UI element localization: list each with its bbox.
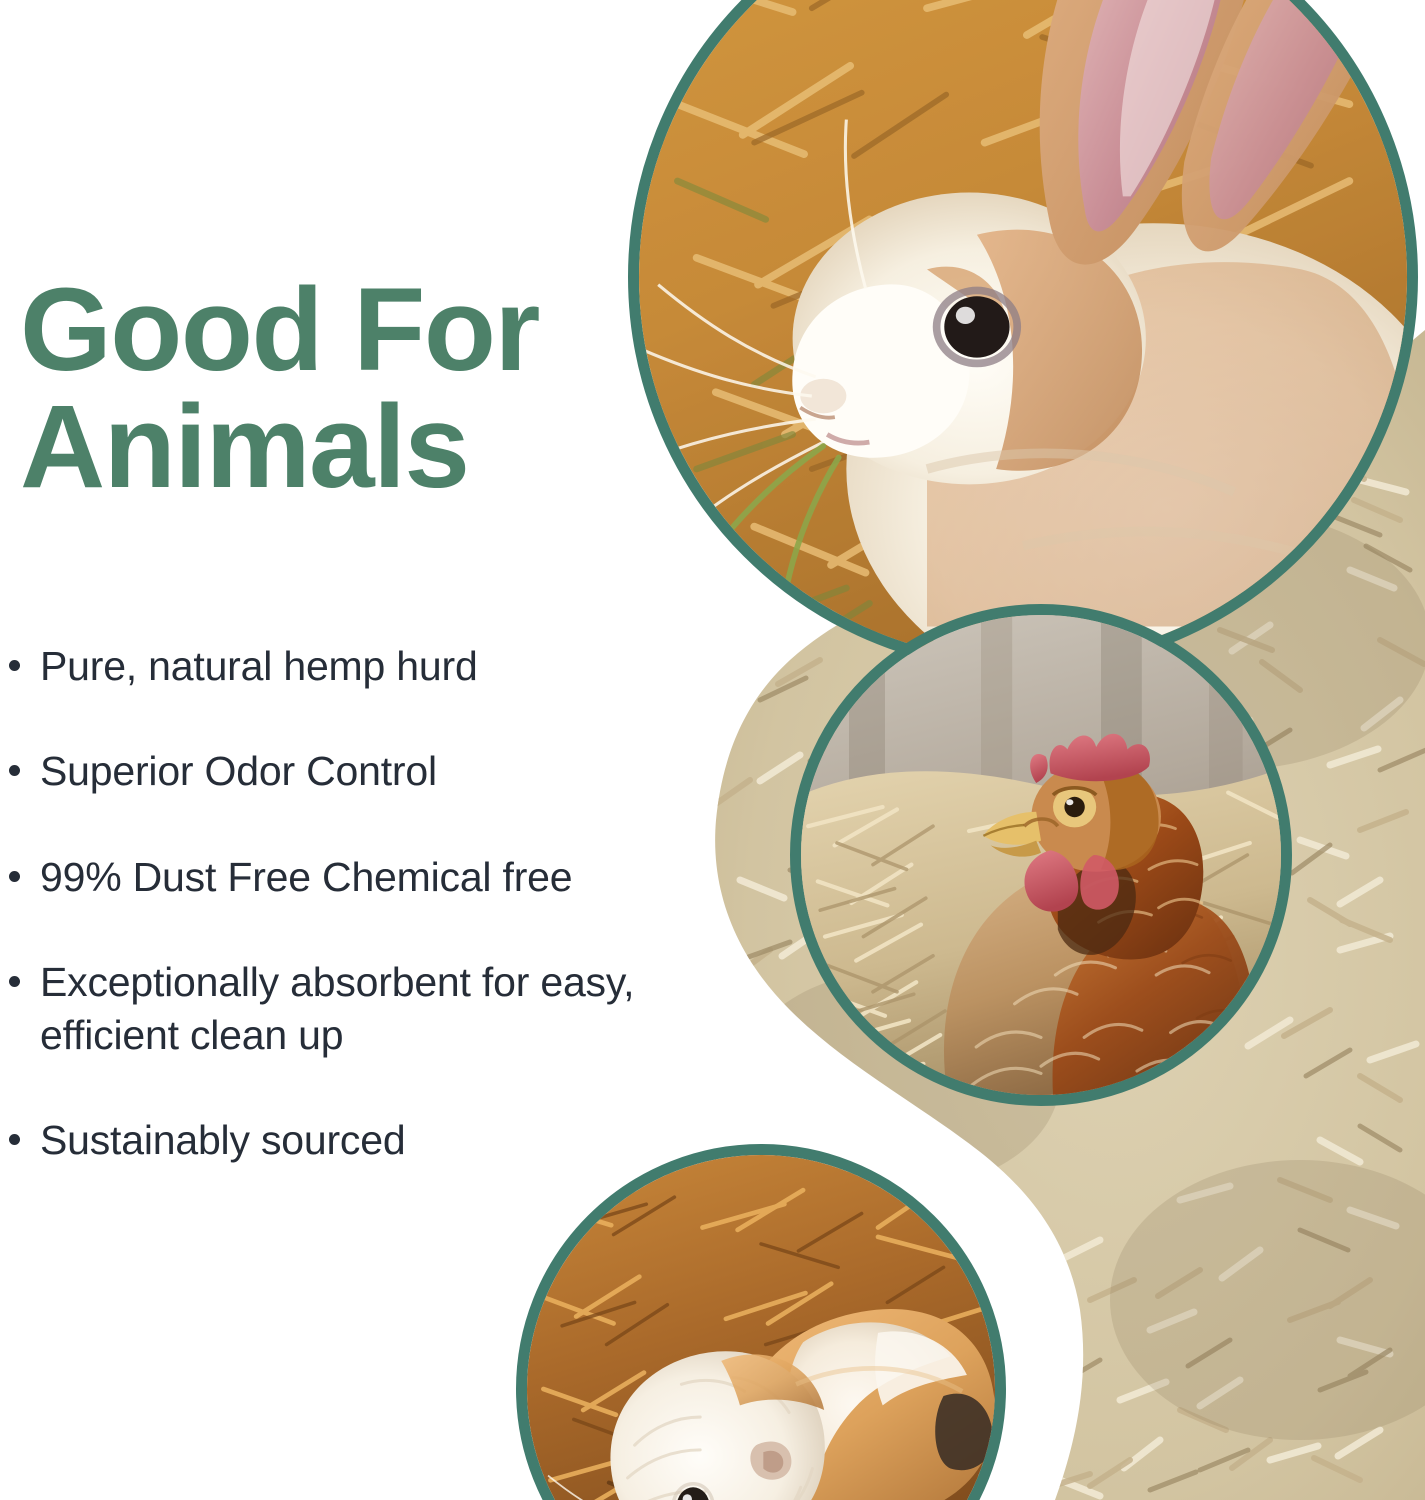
bullet-dot-icon	[9, 871, 20, 882]
bullet-text: Exceptionally absorbent for easy, effici…	[40, 959, 634, 1058]
rabbit-photo	[628, 0, 1418, 672]
headline-line-2: Animals	[20, 389, 720, 506]
list-item: Superior Odor Control	[6, 745, 726, 798]
bullet-text: Sustainably sourced	[40, 1117, 405, 1163]
bullet-dot-icon	[9, 976, 20, 987]
headline-line-1: Good For	[20, 272, 720, 389]
bullet-text: 99% Dust Free Chemical free	[40, 854, 572, 900]
feature-bullet-list: Pure, natural hemp hurd Superior Odor Co…	[6, 640, 726, 1168]
list-item: Pure, natural hemp hurd	[6, 640, 726, 693]
chicken-photo	[790, 604, 1292, 1106]
bullet-dot-icon	[9, 660, 20, 671]
bullet-text: Pure, natural hemp hurd	[40, 643, 478, 689]
infographic-canvas: Good For Animals Pure, natural hemp hurd…	[0, 0, 1425, 1500]
page-title: Good For Animals	[20, 272, 720, 506]
guinea-pig-photo	[516, 1144, 1006, 1500]
bullet-dot-icon	[9, 1134, 20, 1145]
list-item: 99% Dust Free Chemical free	[6, 851, 726, 904]
bullet-text: Superior Odor Control	[40, 748, 437, 794]
list-item: Sustainably sourced	[6, 1114, 726, 1167]
list-item: Exceptionally absorbent for easy, effici…	[6, 956, 726, 1063]
bullet-dot-icon	[9, 765, 20, 776]
